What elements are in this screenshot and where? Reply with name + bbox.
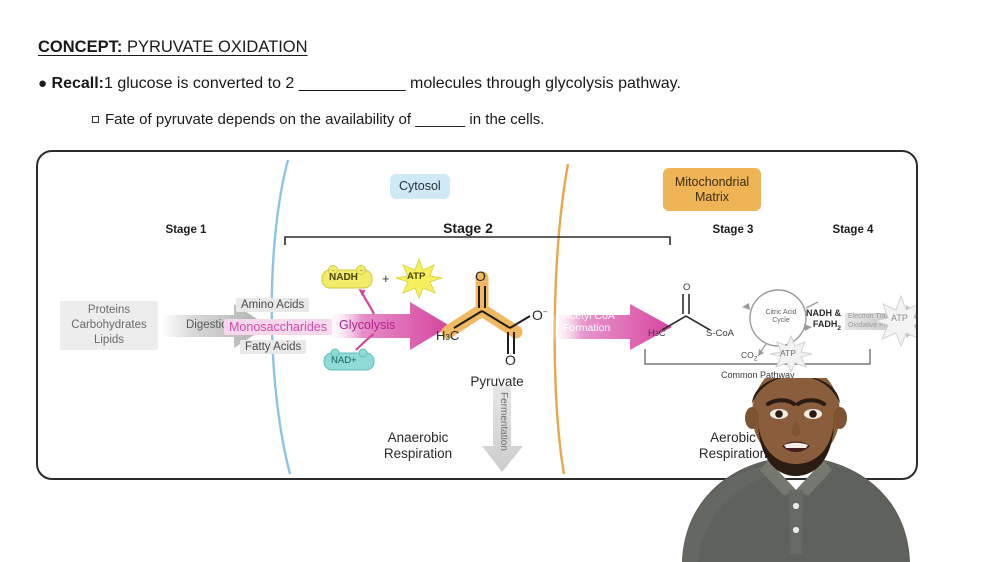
anaerobic-line1: Anaerobic: [348, 430, 488, 446]
chip-fatty-acids: Fatty Acids: [240, 340, 306, 354]
presenter-video-overlay: [672, 378, 920, 562]
stage-3-label: Stage 3: [693, 224, 773, 236]
pyruvate-carboxylate-oxygen: O−: [532, 307, 548, 323]
pyruvate-carbonyl-oxygen: O: [505, 352, 516, 368]
source-proteins: Proteins: [66, 303, 152, 318]
recall-text-2: molecules through glycolysis pathway.: [406, 75, 681, 92]
acetyl-coa-scoa: S-CoA: [706, 328, 734, 339]
source-carbohydrates: Carbohydrates: [66, 318, 152, 333]
atp-label-cycle: ATP: [780, 348, 796, 358]
nad-plus-label: NAD+: [331, 355, 357, 366]
plus-sign: +: [382, 271, 390, 286]
recall-text-1: 1 glucose is converted to 2: [104, 75, 299, 92]
acetyl-coa-line1: Acetyl CoA: [563, 310, 615, 322]
recall-bullet: ● Recall:1 glucose is converted to 2 ___…: [38, 75, 681, 93]
nadh-label: NADH: [329, 272, 358, 283]
badge-cytosol: Cytosol: [390, 174, 450, 199]
pyruvate-caption: Pyruvate: [442, 374, 552, 390]
badge-mitochondrial-matrix: Mitochondrial Matrix: [663, 168, 761, 211]
atp-label-glycolysis: ATP: [407, 271, 425, 282]
stage-4-label: Stage 4: [813, 224, 893, 236]
acetyl-coa-arrow-label: Acetyl CoA Formation: [563, 310, 615, 334]
fate-text-1: Fate of pyruvate depends on the availabi…: [105, 111, 415, 128]
pyruvate-structure: [424, 270, 554, 380]
concept-label: CONCEPT:: [38, 38, 122, 56]
pyruvate-methyl-group: H3C: [436, 328, 459, 343]
acetyl-coa-oxygen: O: [683, 282, 690, 293]
bullet-marker: ●: [38, 75, 47, 92]
acetyl-coa-line2: Formation: [563, 322, 615, 334]
anaerobic-respiration-caption: Anaerobic Respiration: [348, 430, 488, 462]
nadh-fadh2-line2: FADH2: [806, 319, 841, 334]
source-molecules-box: Proteins Carbohydrates Lipids: [60, 301, 158, 350]
cytosol-label: Cytosol: [399, 179, 441, 193]
anaerobic-line2: Respiration: [348, 446, 488, 462]
pyruvate-keto-oxygen: O: [475, 268, 486, 284]
slide-page: CONCEPT: PYRUVATE OXIDATION ● Recall:1 g…: [0, 0, 1000, 562]
electron-carriers-label: NADH & FADH2: [806, 308, 841, 334]
presenter-figure: [672, 378, 920, 562]
source-lipids: Lipids: [66, 333, 152, 348]
matrix-label-line1: Mitochondrial: [669, 175, 755, 190]
fermentation-label: Fermentation: [498, 392, 509, 451]
matrix-label-line2: Matrix: [669, 190, 755, 205]
nadh-fadh2-line1: NADH &: [806, 308, 841, 319]
acetyl-coa-structure: [646, 280, 756, 360]
co2-label: CO2: [741, 350, 757, 363]
fate-blank: ______: [415, 111, 465, 128]
page-title: CONCEPT: PYRUVATE OXIDATION: [38, 38, 308, 57]
chip-amino-acids: Amino Acids: [236, 298, 309, 312]
square-bullet-icon: [92, 116, 99, 123]
acetyl-coa-methyl: H3C: [648, 328, 666, 339]
stage-2-label: Stage 2: [428, 220, 508, 236]
recall-label: Recall:: [52, 75, 104, 92]
chip-monosaccharides: Monosaccharides: [224, 319, 332, 335]
fate-sub-bullet: Fate of pyruvate depends on the availabi…: [92, 111, 544, 128]
stage-1-label: Stage 1: [146, 224, 226, 236]
atp-label-etc: ATP: [891, 313, 908, 323]
fate-text-2: in the cells.: [465, 111, 544, 128]
concept-title: PYRUVATE OXIDATION: [127, 38, 308, 56]
glycolysis-label: Glycolysis: [339, 318, 395, 332]
recall-blank: ____________: [299, 75, 406, 92]
svg-text:−: −: [359, 269, 363, 275]
